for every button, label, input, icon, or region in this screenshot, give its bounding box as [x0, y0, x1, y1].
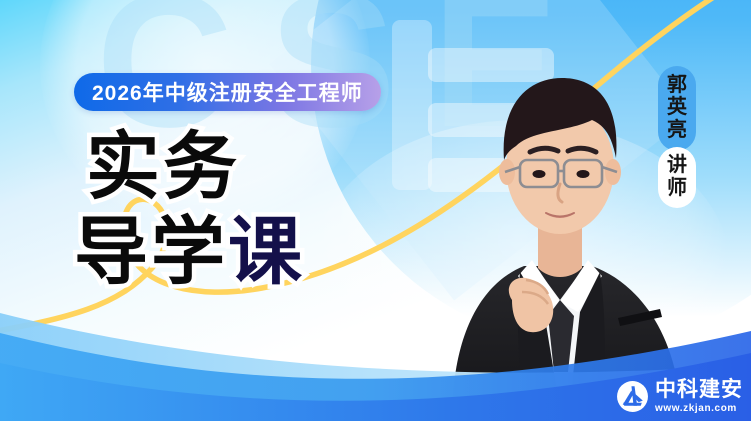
- course-category-badge: 2026年中级注册安全工程师: [74, 73, 381, 111]
- headline-line-2-navy: 课: [228, 210, 305, 293]
- brand-website-url: www.zkjan.com: [655, 402, 743, 415]
- instructor-role-char-2: 师: [667, 177, 687, 199]
- badge-label: 2026年中级注册安全工程师: [92, 77, 363, 107]
- headline-line-1: 实务: [86, 130, 414, 203]
- headline-line-2: 导学课: [74, 215, 414, 288]
- brand-logo-text: 中科建安 www.zkjan.com: [655, 379, 743, 415]
- zkjan-circle-logo-icon: [616, 380, 649, 413]
- instructor-role-char-1: 讲: [667, 154, 687, 176]
- instructor-name-pill: 郭 英 亮: [658, 66, 696, 151]
- brand-logo: 中科建安 www.zkjan.com: [616, 379, 743, 415]
- instructor-name-char-3: 亮: [667, 119, 687, 141]
- headline-line-2-dark: 导学: [74, 210, 228, 293]
- course-poster: CSE: [0, 0, 751, 421]
- instructor-label-group: 郭 英 亮 讲 师: [658, 66, 696, 208]
- instructor-role-pill: 讲 师: [658, 147, 696, 208]
- instructor-name-char-1: 郭: [667, 74, 687, 96]
- poster-headline: 实务 导学课: [74, 130, 414, 289]
- brand-name-cn: 中科建安: [655, 379, 743, 401]
- instructor-name-char-2: 英: [667, 96, 687, 118]
